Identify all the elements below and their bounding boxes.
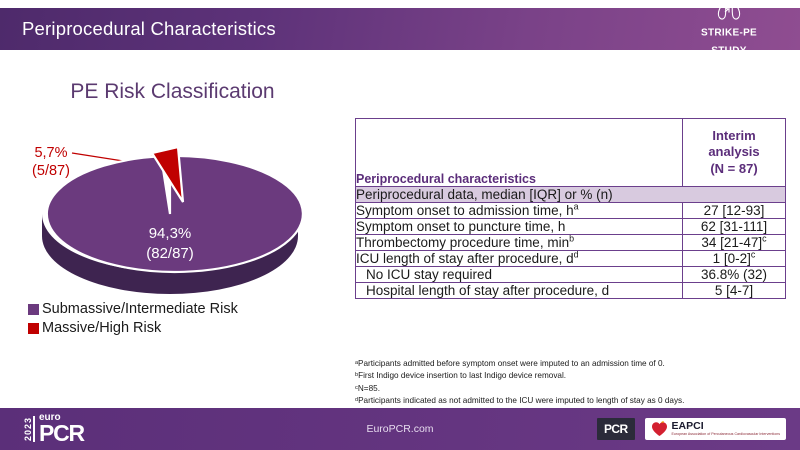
- row-value-icu-length-stay: 1 [0-2]c: [683, 251, 786, 267]
- footnote-ref-c: c: [762, 234, 766, 244]
- periprocedural-table-wrap: Periprocedural characteristics Interiman…: [355, 118, 785, 299]
- row-value-symptom-onset-puncture: 62 [31-111]: [683, 219, 786, 235]
- footnote-ref-c2: c: [751, 250, 755, 260]
- slide-header: Periprocedural Characteristics STRIKE-PE…: [0, 8, 800, 50]
- minor-slice-pct: 5,7%: [8, 144, 94, 162]
- row-value-symptom-onset-admission: 27 [12-93]: [683, 203, 786, 219]
- minor-slice-callout: 5,7% (5/87): [8, 144, 94, 180]
- row-value-thrombectomy-time: 34 [21-47]c: [683, 235, 786, 251]
- table-section-row: Periprocedural data, median [IQR] or % (…: [356, 187, 786, 203]
- footer-logos: PCR EAPCI European Association of Percut…: [597, 418, 786, 440]
- row-value-no-icu-stay: 36.8% (32): [683, 267, 786, 283]
- minor-slice-count: (5/87): [8, 162, 94, 180]
- row-label-symptom-onset-admission: Symptom onset to admission time, ha: [356, 203, 683, 219]
- strike-pe-logo: STRIKE-PE STUDY: [674, 0, 784, 59]
- major-slice-count: (82/87): [80, 244, 260, 264]
- table-header-characteristics: Periprocedural characteristics: [356, 119, 683, 187]
- row-label-thrombectomy-time: Thrombectomy procedure time, minb: [356, 235, 683, 251]
- footnote-c: ᶜN=85.: [355, 383, 787, 395]
- table-row: ICU length of stay after procedure, dd 1…: [356, 251, 786, 267]
- footnotes: ᵃParticipants admitted before symptom on…: [355, 358, 787, 407]
- eapci-badge: EAPCI European Association of Percutaneo…: [645, 418, 786, 440]
- footnote-ref-d: d: [574, 250, 579, 260]
- table-header-interim-analysis: Interimanalysis(N = 87): [683, 119, 786, 187]
- row-label-icu-length-stay: ICU length of stay after procedure, dd: [356, 251, 683, 267]
- legend-swatch-submassive: [28, 304, 39, 315]
- row-value-hospital-length-stay: 5 [4-7]: [683, 283, 786, 299]
- table-row: Hospital length of stay after procedure,…: [356, 283, 786, 299]
- pcr-badge: PCR: [597, 418, 635, 440]
- pie-chart-svg: [0, 106, 345, 301]
- legend-label-submassive: Submassive/Intermediate Risk: [42, 301, 238, 317]
- lungs-icon: [712, 0, 746, 22]
- table-header-row: Periprocedural characteristics Interiman…: [356, 119, 786, 187]
- major-slice-label: 94,3% (82/87): [80, 224, 260, 263]
- table-row: Symptom onset to puncture time, h 62 [31…: [356, 219, 786, 235]
- brand-name: STRIKE-PE STUDY: [701, 28, 757, 57]
- table-body: Periprocedural data, median [IQR] or % (…: [356, 187, 786, 299]
- chart-legend: Submassive/Intermediate Risk Massive/Hig…: [28, 301, 238, 339]
- row-label-symptom-onset-puncture: Symptom onset to puncture time, h: [356, 219, 683, 235]
- major-slice-pct: 94,3%: [80, 224, 260, 244]
- table-section-label: Periprocedural data, median [IQR] or % (…: [356, 187, 786, 203]
- eapci-text: EAPCI European Association of Percutaneo…: [672, 421, 780, 436]
- chart-title: PE Risk Classification: [0, 80, 345, 104]
- eapci-name: EAPCI: [672, 421, 780, 432]
- slide: Periprocedural Characteristics STRIKE-PE…: [0, 0, 800, 450]
- row-label-hospital-length-stay: Hospital length of stay after procedure,…: [356, 283, 683, 299]
- legend-item-massive: Massive/High Risk: [28, 320, 238, 336]
- slide-footer: 2023 euro PCR EuroPCR.com PCR EAPCI Euro…: [0, 408, 800, 450]
- footnote-a: ᵃParticipants admitted before symptom on…: [355, 358, 787, 370]
- pie-chart-panel: PE Risk Classification 5,7% (5/87) 94,3%…: [0, 58, 345, 358]
- legend-swatch-massive: [28, 323, 39, 334]
- heart-icon: [651, 421, 668, 437]
- legend-label-massive: Massive/High Risk: [42, 320, 161, 336]
- eapci-subtitle: European Association of Percutaneous Car…: [672, 433, 780, 437]
- footnote-ref-b: b: [569, 234, 574, 244]
- page-title: Periprocedural Characteristics: [22, 18, 276, 40]
- table-row: No ICU stay required 36.8% (32): [356, 267, 786, 283]
- legend-item-submassive: Submassive/Intermediate Risk: [28, 301, 238, 317]
- footnote-ref-a: a: [574, 202, 579, 212]
- pie-chart: 5,7% (5/87) 94,3% (82/87): [0, 106, 345, 301]
- footnote-d: ᵈParticipants indicated as not admitted …: [355, 395, 787, 407]
- periprocedural-table: Periprocedural characteristics Interiman…: [355, 118, 786, 299]
- row-label-no-icu-stay: No ICU stay required: [356, 267, 683, 283]
- table-row: Symptom onset to admission time, ha 27 […: [356, 203, 786, 219]
- footnote-b: ᵇFirst Indigo device insertion to last I…: [355, 370, 787, 382]
- table-row: Thrombectomy procedure time, minb 34 [21…: [356, 235, 786, 251]
